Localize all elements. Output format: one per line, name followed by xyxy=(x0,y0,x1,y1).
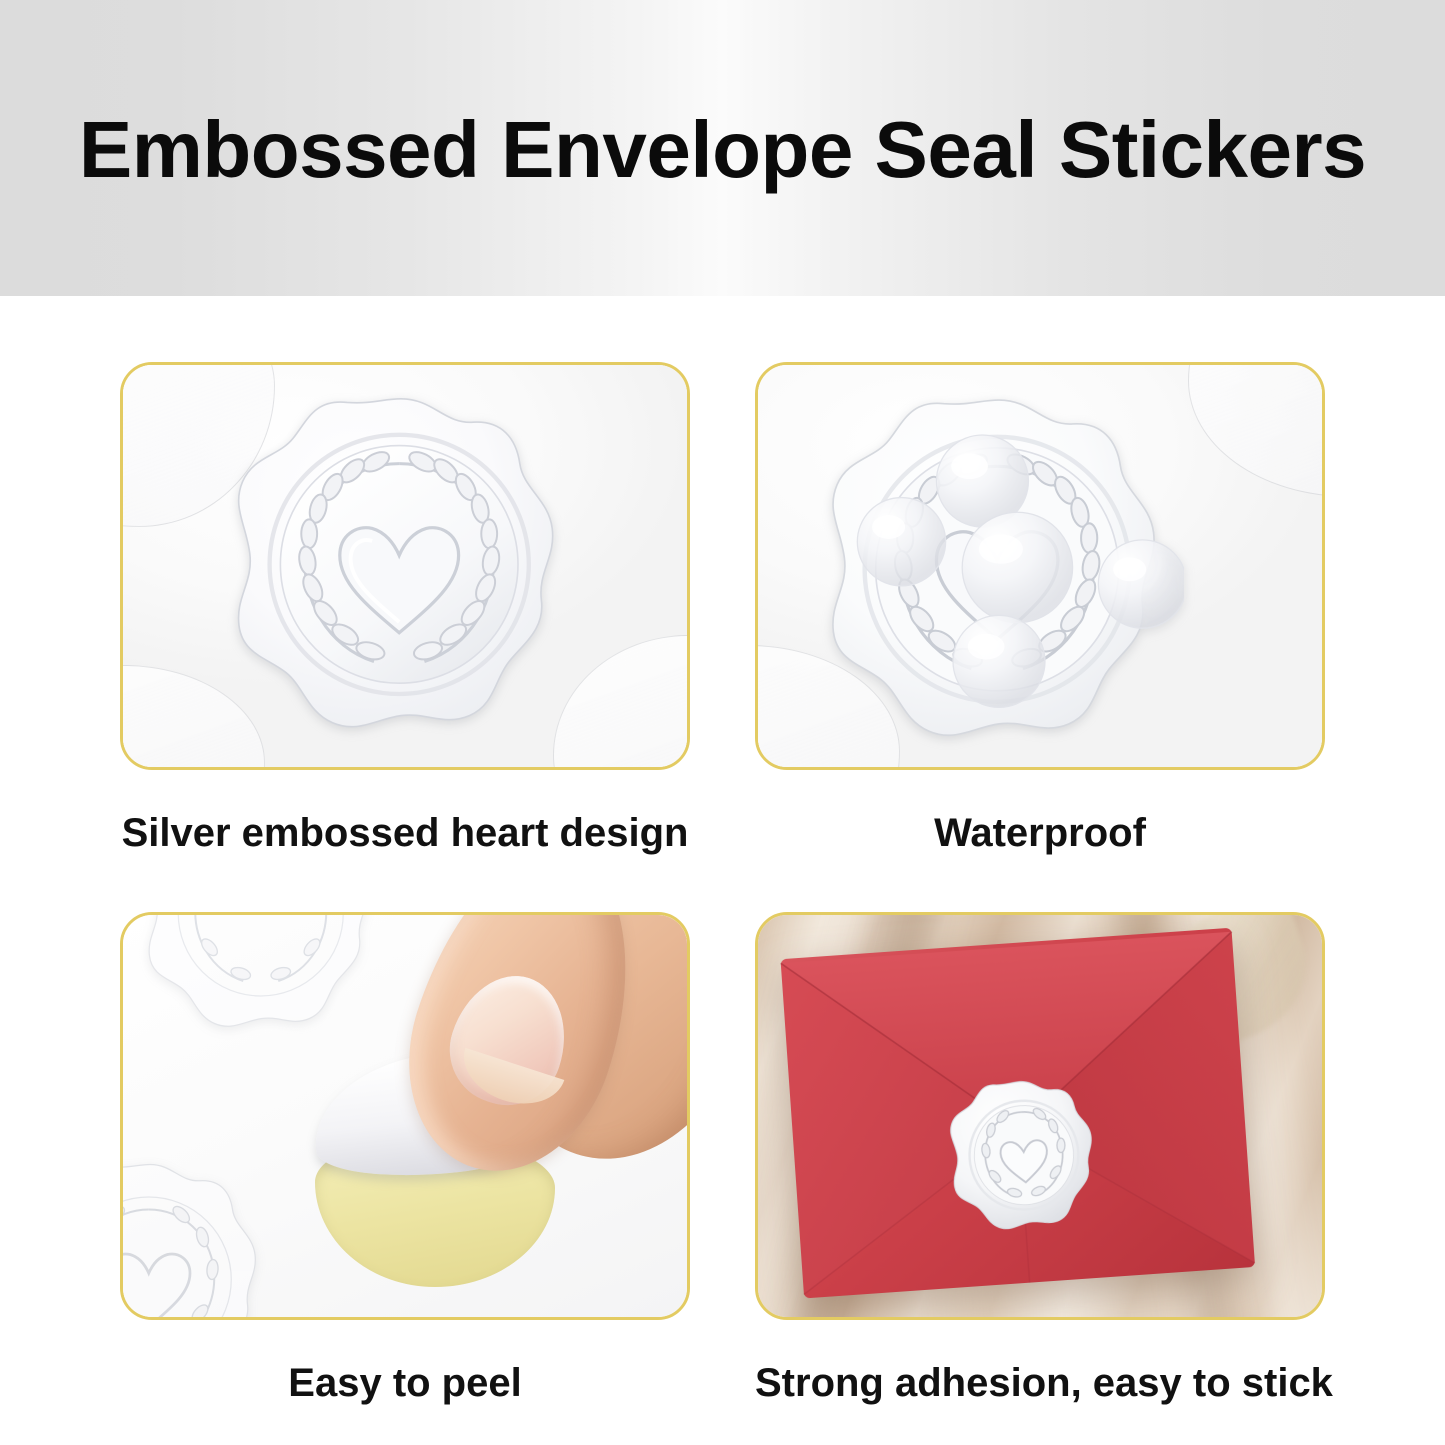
seal-graphic xyxy=(814,389,1184,757)
water-droplet xyxy=(857,498,945,586)
feature-card-strong-adhesion: Strong adhesion, easy to stick xyxy=(755,912,1325,1408)
feature-image-waterproof xyxy=(755,362,1325,770)
header-banner: Embossed Envelope Seal Stickers xyxy=(0,0,1445,296)
water-droplet xyxy=(962,512,1072,622)
feature-caption-waterproof: Waterproof xyxy=(755,808,1325,858)
unpeeled-seal-top xyxy=(137,912,387,1041)
seal-graphic xyxy=(221,387,581,749)
embossed-seal-sticker xyxy=(814,389,1184,757)
page-title: Embossed Envelope Seal Stickers xyxy=(0,104,1445,196)
feature-card-easy-peel: Easy to peel xyxy=(120,912,690,1408)
feature-image-easy-peel xyxy=(120,912,690,1320)
water-droplet xyxy=(953,615,1045,707)
red-envelope xyxy=(772,915,1267,1317)
feature-caption-strong-adhesion: Strong adhesion, easy to stick xyxy=(755,1358,1325,1408)
feature-image-heart-design xyxy=(120,362,690,770)
feature-image-strong-adhesion xyxy=(755,912,1325,1320)
embossed-seal-sticker xyxy=(221,387,581,749)
feature-card-heart-design: Silver embossed heart design xyxy=(120,362,690,858)
unpeeled-seal-bottom-left xyxy=(120,1157,275,1320)
feature-caption-easy-peel: Easy to peel xyxy=(120,1358,690,1408)
seal-graphic xyxy=(120,1157,275,1320)
feature-card-waterproof: Waterproof xyxy=(755,362,1325,858)
seal-graphic xyxy=(137,912,387,1041)
feature-caption-heart-design: Silver embossed heart design xyxy=(120,808,690,858)
feature-grid: Silver embossed heart design xyxy=(0,296,1445,1445)
envelope-graphic xyxy=(772,915,1267,1317)
water-droplet xyxy=(1098,540,1184,628)
